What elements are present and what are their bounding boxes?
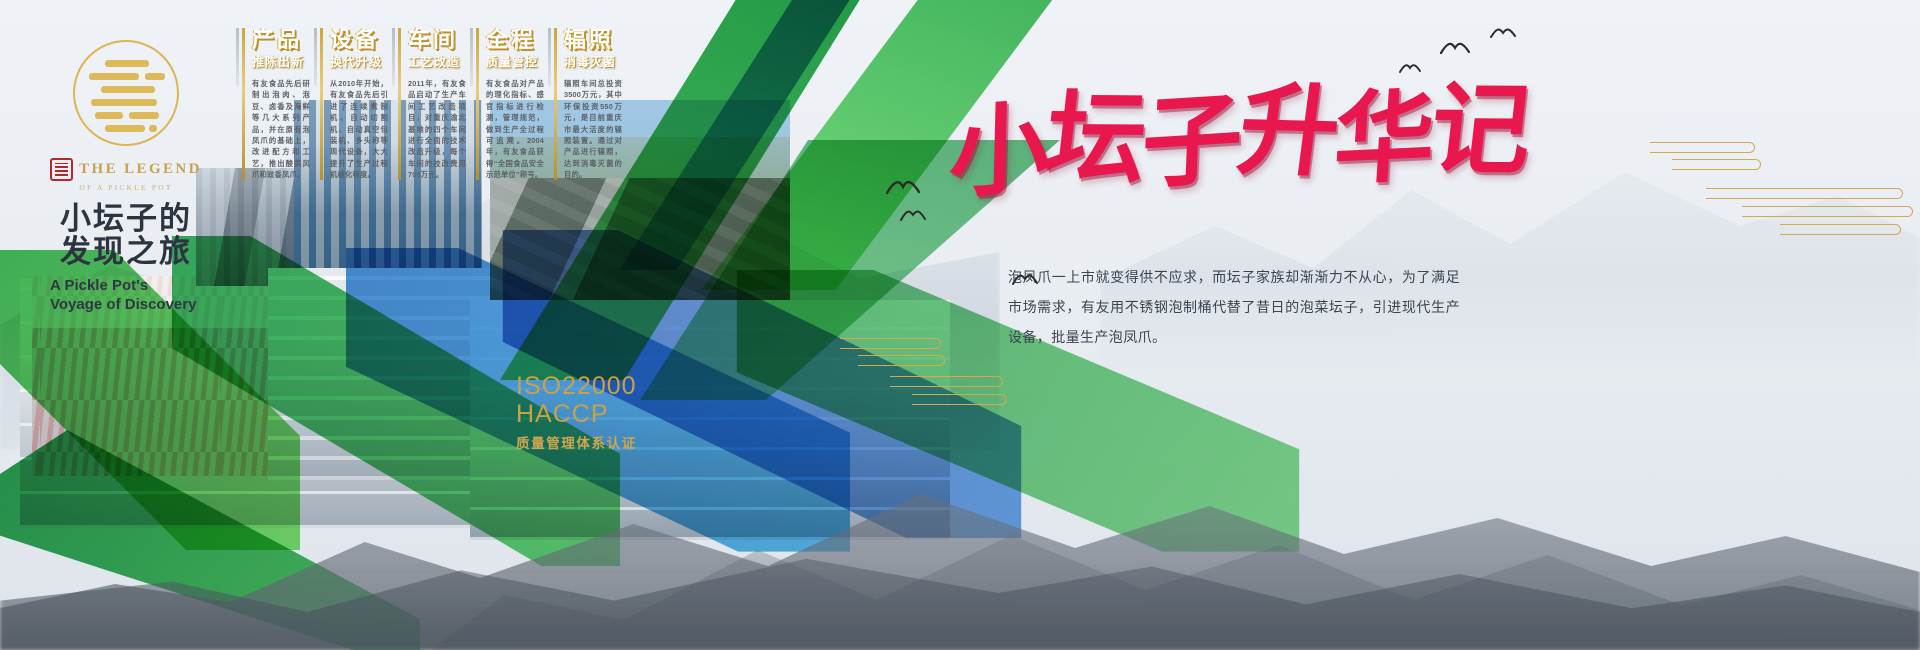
callout-body: 有友食品对产品的理化指标、感官指标进行检测，管理规范，做到生产全过程可追溯。20… [486, 78, 544, 181]
callout-column-workshop: 车间 工艺改造 2011年，有友食品启动了生产车间工艺改造项目，对重庆渝北基地的… [408, 28, 466, 181]
callout-body: 2011年，有友食品启动了生产车间工艺改造项目，对重庆渝北基地的四个车间进行全面… [408, 78, 466, 181]
flying-bird-icon [900, 208, 926, 224]
page-title: 小坛子升华记 [944, 70, 1515, 216]
brand-title-en-2: Voyage of Discovery [36, 295, 216, 314]
callout-heading: 辐照 [564, 28, 622, 52]
callout-subheading: 质量管控 [486, 55, 544, 69]
callout-column-quality: 全程 质量管控 有友食品对产品的理化指标、感官指标进行检测，管理规范，做到生产全… [486, 28, 544, 181]
headline-char-6: 记 [1425, 69, 1534, 190]
callout-body: 有友食品先后研制出泡肉、泡豆、卤香及海鲜等几大系列产品，并在原有泡凤爪的基础上，… [252, 78, 310, 181]
callout-column-product: 产品 推陈出新 有友食品先后研制出泡肉、泡豆、卤香及海鲜等几大系列产品，并在原有… [252, 28, 310, 181]
body-paragraph: 泡凤爪一上市就变得供不应求，而坛子家族却渐渐力不从心，为了满足市场需求，有友用不… [1008, 262, 1460, 352]
brand-title-cn-1: 小坛子的 [36, 202, 216, 235]
callout-column-equipment: 设备 换代升级 从2010年开始，有友食品先后引进了连续煮制机、自动切割机、自动… [330, 28, 388, 181]
gold-circle-seal-icon [73, 40, 179, 146]
callout-column-irradiation: 辐照 消毒灭菌 辐照车间总投资3500万元，其中环保投资550万元，是目前重庆市… [564, 28, 622, 181]
callout-subheading: 推陈出新 [252, 55, 310, 69]
flying-bird-icon [1490, 26, 1516, 42]
brand-title-cn-2: 发现之旅 [36, 235, 216, 268]
headline-char-4: 升 [1232, 69, 1343, 191]
callout-heading: 设备 [330, 28, 388, 52]
headline-char-2: 坛 [1040, 77, 1149, 198]
headline-char-5: 华 [1331, 76, 1435, 200]
cert-haccp-line: HACCP [516, 400, 637, 428]
gold-cloud-line-icon [1650, 142, 1770, 176]
callout-subheading: 工艺改造 [408, 55, 466, 69]
callout-heading: 全程 [486, 28, 544, 52]
flying-bird-icon [886, 178, 920, 198]
certification-block: ISO22000 HACCP 质量管理体系认证 [516, 372, 637, 452]
legend-wordmark: THE LEGEND [36, 158, 216, 181]
gold-rule-icon [398, 28, 401, 180]
cert-cn-line: 质量管理体系认证 [516, 432, 637, 452]
brand-lockup: THE LEGEND OF A PICKLE POT 小坛子的 发现之旅 A P… [36, 40, 216, 314]
red-chop-icon [50, 158, 73, 181]
headline-char-1: 小 [948, 87, 1047, 214]
callout-heading: 产品 [252, 28, 310, 52]
callout-heading: 车间 [408, 28, 466, 52]
callout-body: 从2010年开始，有友食品先后引进了连续煮制机、自动切割机、自动真空包装机、多头… [330, 78, 388, 181]
legend-sub-en: OF A PICKLE POT [36, 183, 216, 192]
brand-title-en-1: A Pickle Pot's [36, 276, 216, 295]
gold-rule-icon [242, 28, 245, 180]
gold-rule-icon [320, 28, 323, 180]
cert-iso-line: ISO22000 [516, 372, 637, 400]
headline-char-3: 子 [1139, 78, 1240, 204]
poster-canvas: THE LEGEND OF A PICKLE POT 小坛子的 发现之旅 A P… [0, 0, 1920, 650]
callout-body: 辐照车间总投资3500万元，其中环保投资550万元，是目前重庆市最大活度的辐照装… [564, 78, 622, 181]
photo-packing-line [268, 268, 498, 480]
gold-cloud-line-icon [1700, 188, 1920, 246]
flying-bird-icon [1440, 40, 1470, 58]
callout-subheading: 换代升级 [330, 55, 388, 69]
callout-subheading: 消毒灭菌 [564, 55, 622, 69]
legend-en: THE LEGEND [79, 161, 202, 178]
gold-rule-icon [554, 28, 557, 180]
gold-rule-icon [476, 28, 479, 180]
